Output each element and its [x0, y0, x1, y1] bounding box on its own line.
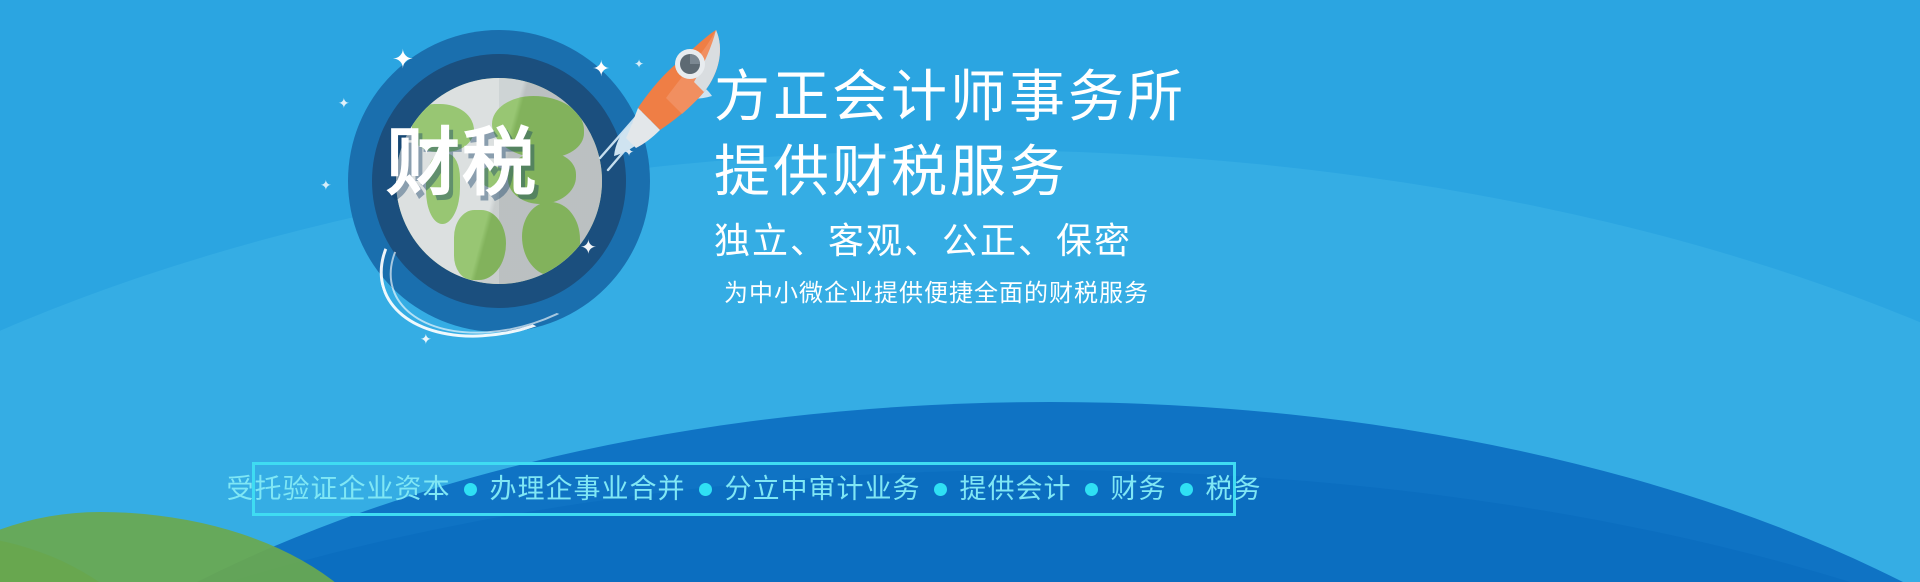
headline-line-1: 方正会计师事务所 [714, 60, 1414, 134]
services-bar: 受托验证企业资本办理企事业合并分立中审计业务提供会计财务税务 [252, 462, 1236, 516]
service-item: 税务 [1206, 476, 1262, 503]
sparkle-icon: ✦ [580, 238, 597, 258]
dot-separator-icon [464, 483, 477, 496]
service-item: 受托验证企业资本 [227, 476, 451, 503]
headline-line-2: 提供财税服务 [714, 134, 1414, 210]
service-item: 分立中审计业务 [725, 476, 921, 503]
services-list: 受托验证企业资本办理企事业合并分立中审计业务提供会计财务税务 [227, 476, 1262, 503]
dot-separator-icon [934, 483, 947, 496]
promotional-banner: 财税 ✦✦✦✦✦✦✦✦✦ [0, 0, 1920, 582]
dot-separator-icon [1085, 483, 1098, 496]
tagline: 独立、客观、公正、保密 [714, 210, 1414, 272]
service-item: 提供会计 [960, 476, 1072, 503]
dot-separator-icon [699, 483, 712, 496]
service-item: 办理企事业合并 [490, 476, 686, 503]
sparkle-icon: ✦ [418, 138, 435, 158]
sparkle-icon: ✦ [420, 332, 432, 346]
service-item: 财务 [1111, 476, 1167, 503]
sparkle-icon: ✦ [392, 46, 414, 72]
copy-block: 方正会计师事务所 提供财税服务 独立、客观、公正、保密 为中小微企业提供便捷全面… [714, 60, 1414, 316]
sparkle-icon: ✦ [338, 96, 350, 110]
sparkle-icon: ✦ [320, 178, 332, 192]
subtitle: 为中小微企业提供便捷全面的财税服务 [714, 272, 1414, 316]
dot-separator-icon [1180, 483, 1193, 496]
